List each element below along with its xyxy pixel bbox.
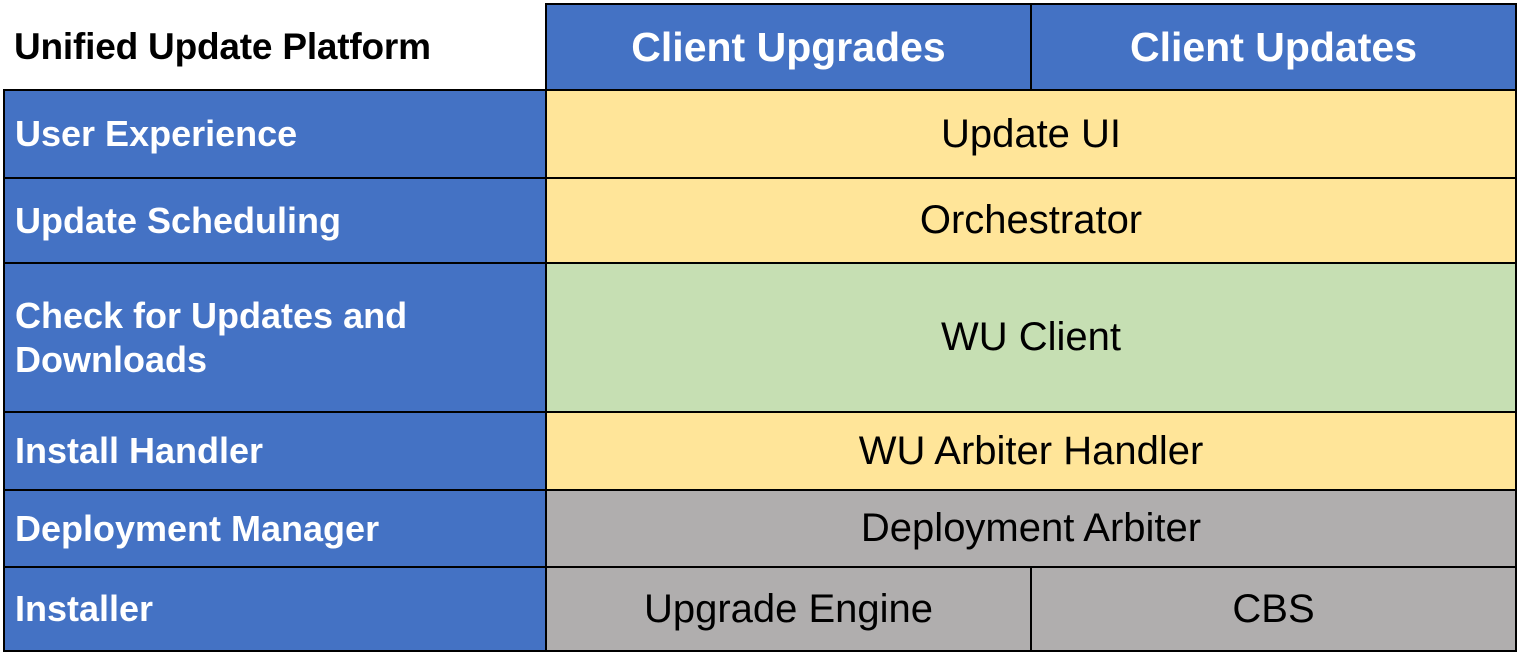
table-header-row: Unified Update Platform Client Upgrades … [4,4,1516,90]
column-header-client-updates: Client Updates [1031,4,1516,90]
column-header-client-upgrades: Client Upgrades [546,4,1031,90]
table-row: User Experience Update UI [4,90,1516,178]
stage-label-deployment-manager: Deployment Manager [4,490,546,567]
page-title: Unified Update Platform [4,4,546,90]
table-row: Check for Updates and Downloads WU Clien… [4,263,1516,412]
component-deployment-arbiter: Deployment Arbiter [546,490,1516,567]
component-orchestrator: Orchestrator [546,178,1516,263]
stage-label-update-scheduling: Update Scheduling [4,178,546,263]
table-row: Update Scheduling Orchestrator [4,178,1516,263]
component-wu-arbiter-handler: WU Arbiter Handler [546,412,1516,490]
table-row: Installer Upgrade Engine CBS [4,567,1516,651]
table-row: Deployment Manager Deployment Arbiter [4,490,1516,567]
component-wu-client: WU Client [546,263,1516,412]
component-upgrade-engine: Upgrade Engine [546,567,1031,651]
component-update-ui: Update UI [546,90,1516,178]
stage-label-check-for-updates-and-downloads: Check for Updates and Downloads [4,263,546,412]
unified-update-platform-table: Unified Update Platform Client Upgrades … [3,3,1517,652]
stage-label-install-handler: Install Handler [4,412,546,490]
table-row: Install Handler WU Arbiter Handler [4,412,1516,490]
stage-label-installer: Installer [4,567,546,651]
stage-label-user-experience: User Experience [4,90,546,178]
component-cbs: CBS [1031,567,1516,651]
